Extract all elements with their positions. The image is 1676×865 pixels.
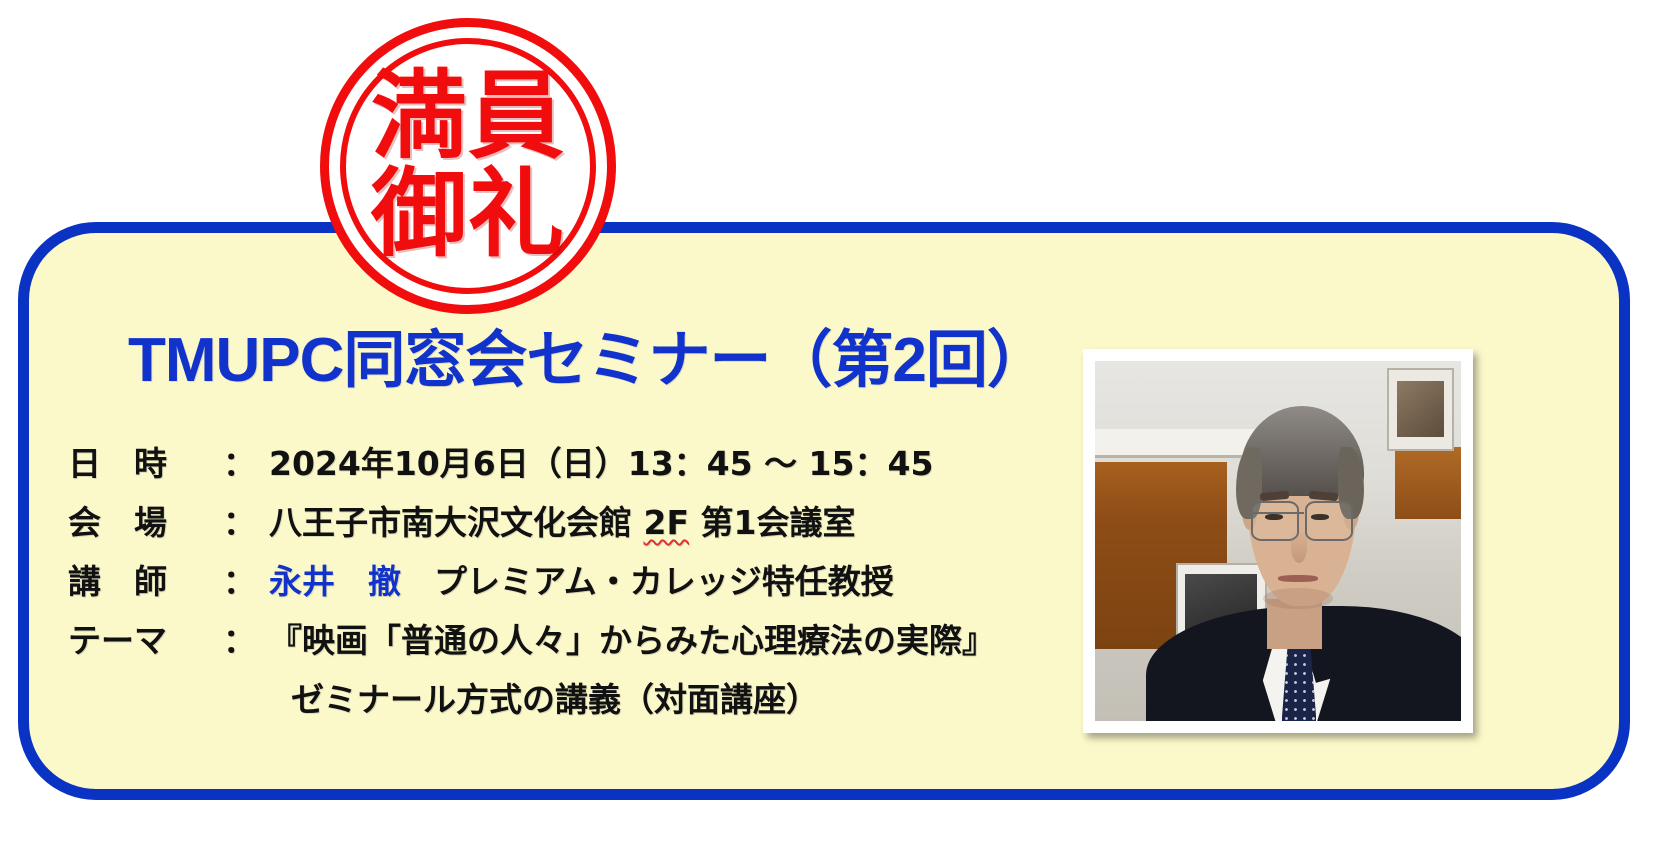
- photo-background-shelf: [1095, 429, 1263, 457]
- detail-colon-lecturer: ：: [223, 555, 269, 603]
- lecturer-title: プレミアム・カレッジ特任教授: [401, 562, 894, 601]
- stamp-line-1: 満員: [371, 68, 565, 166]
- detail-value-venue: 八王子市南大沢文化会館 2F 第1会議室: [269, 496, 855, 544]
- portrait-nose: [1291, 530, 1307, 562]
- lecturer-portrait-frame: [1083, 349, 1473, 733]
- manin-onrei-stamp: 満員 御礼: [320, 18, 616, 314]
- stamp-text: 満員 御礼: [329, 27, 607, 305]
- venue-floor-misspelled: 2F: [644, 503, 690, 542]
- detail-value-theme: 『映画「普通の人々」からみた心理療法の実際』: [269, 614, 995, 662]
- venue-name: 八王子市南大沢文化会館: [269, 503, 644, 542]
- glasses-bridge: [1252, 512, 1303, 514]
- detail-value-lecturer: 永井 撤 プレミアム・カレッジ特任教授: [269, 555, 894, 603]
- stamp-line-2: 御礼: [371, 166, 565, 264]
- detail-row-lecturer: 講 師 ： 永井 撤 プレミアム・カレッジ特任教授: [68, 555, 995, 614]
- detail-value-theme-continued: ゼミナール方式の講義（対面講座）: [269, 673, 819, 721]
- detail-row-theme-continued: ゼミナール方式の講義（対面講座）: [68, 673, 995, 732]
- venue-room: 第1会議室: [689, 503, 855, 542]
- detail-row-venue: 会 場 ： 八王子市南大沢文化会館 2F 第1会議室: [68, 496, 995, 555]
- glasses-lens-right: [1305, 501, 1353, 541]
- detail-label-lecturer: 講 師: [68, 555, 223, 603]
- detail-label-venue: 会 場: [68, 496, 223, 544]
- lecturer-portrait: [1095, 361, 1461, 721]
- detail-label-theme: テーマ: [68, 614, 223, 662]
- seminar-poster: 満員 御礼 TMUPC同窓会セミナー（第2回） 日 時 ： 2024年10月6日…: [0, 0, 1676, 865]
- detail-row-theme: テーマ ： 『映画「普通の人々」からみた心理療法の実際』: [68, 614, 995, 673]
- photo-background-picture-frame-right: [1387, 368, 1453, 451]
- detail-colon-venue: ：: [223, 496, 269, 544]
- portrait-mouth: [1278, 575, 1318, 582]
- detail-value-datetime: 2024年10月6日（日）13：45 ～ 15：45: [269, 437, 933, 485]
- photo-background-wood-trim: [1395, 447, 1461, 519]
- detail-colon-theme: ：: [223, 614, 269, 662]
- detail-row-datetime: 日 時 ： 2024年10月6日（日）13：45 ～ 15：45: [68, 437, 995, 496]
- detail-label-datetime: 日 時: [68, 437, 223, 485]
- lecturer-name: 永井 撤: [269, 562, 401, 601]
- detail-colon-datetime: ：: [223, 437, 269, 485]
- seminar-details: 日 時 ： 2024年10月6日（日）13：45 ～ 15：45 会 場 ： 八…: [68, 437, 995, 732]
- page-title: TMUPC同窓会セミナー（第2回）: [128, 330, 1048, 392]
